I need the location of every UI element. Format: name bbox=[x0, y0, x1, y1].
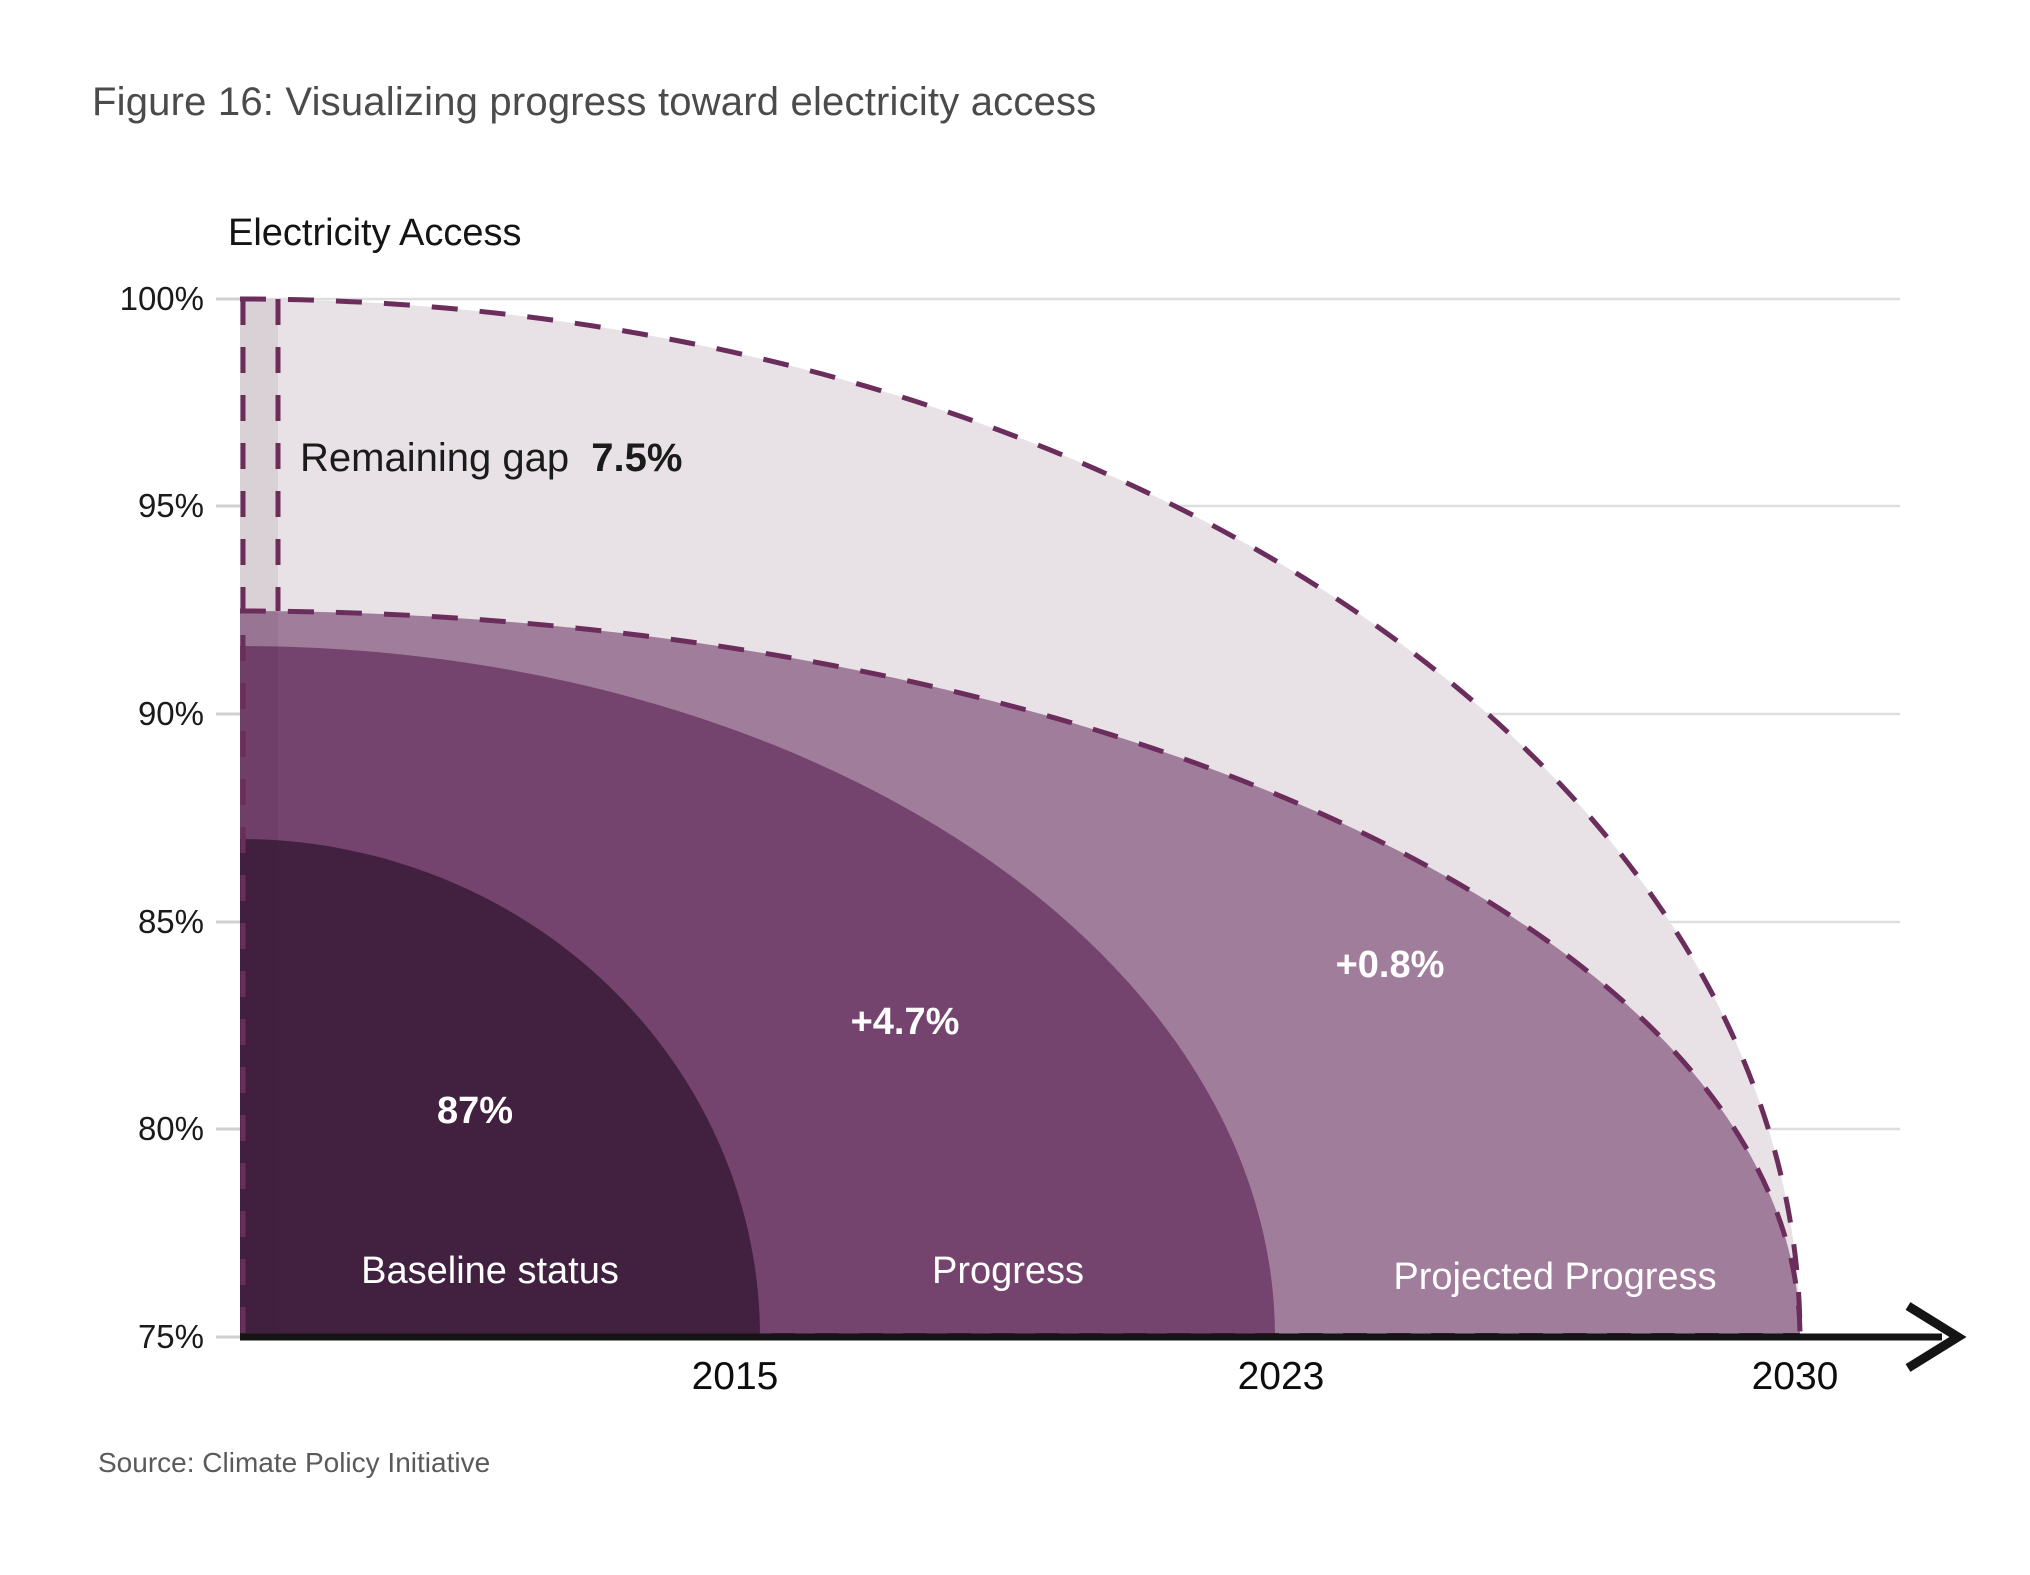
progress-name-label: Progress bbox=[932, 1250, 1084, 1293]
progress-value-label: +4.7% bbox=[851, 1001, 960, 1044]
chart-plot-area bbox=[0, 0, 2030, 1575]
figure-container: Figure 16: Visualizing progress toward e… bbox=[0, 0, 2030, 1575]
remaining-gap-value: 7.5% bbox=[591, 436, 682, 480]
y-tick-90: 90% bbox=[138, 695, 204, 733]
y-tick-95: 95% bbox=[138, 487, 204, 525]
left-overlay-strip bbox=[240, 299, 278, 1337]
y-tick-75: 75% bbox=[138, 1318, 204, 1356]
y-axis-ticks bbox=[216, 299, 244, 1337]
y-tick-100: 100% bbox=[120, 280, 204, 318]
projected-value-label: +0.8% bbox=[1336, 944, 1445, 987]
x-tick-2030: 2030 bbox=[1752, 1355, 1839, 1399]
y-tick-80: 80% bbox=[138, 1110, 204, 1148]
projected-name-label: Projected Progress bbox=[1393, 1256, 1716, 1299]
x-tick-2015: 2015 bbox=[692, 1355, 779, 1399]
remaining-gap-text: Remaining gap bbox=[300, 436, 569, 480]
baseline-value-label: 87% bbox=[437, 1090, 513, 1133]
x-tick-2023: 2023 bbox=[1238, 1355, 1325, 1399]
baseline-name-label: Baseline status bbox=[361, 1250, 619, 1293]
source-note: Source: Climate Policy Initiative bbox=[98, 1447, 490, 1479]
remaining-gap-label: Remaining gap 7.5% bbox=[300, 436, 682, 481]
y-tick-85: 85% bbox=[138, 903, 204, 941]
